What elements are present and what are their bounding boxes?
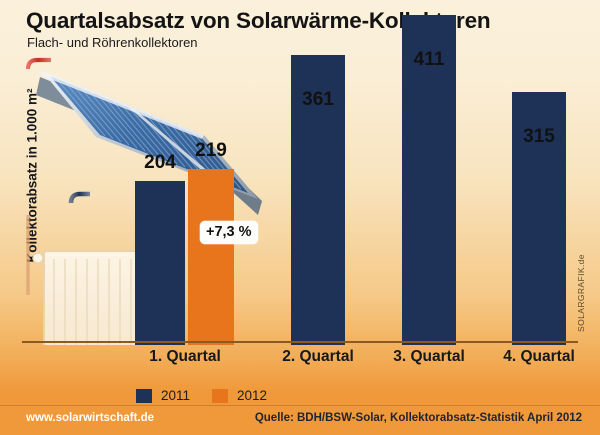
bar-value-2011-q2: 361 <box>291 89 345 111</box>
footer-website[interactable]: www.solarwirtschaft.de <box>26 412 154 424</box>
footer-source: Quelle: BDH/BSW-Solar, Kollektorabsatz-S… <box>255 412 582 424</box>
footer-divider <box>0 405 600 406</box>
x-label-q4: 4. Quartal <box>479 348 599 366</box>
legend-swatch-2012-icon <box>212 389 228 403</box>
bar-value-2011-q3: 411 <box>402 49 456 71</box>
legend-label-2012: 2012 <box>237 388 267 403</box>
graphic-credit: SOLARGRAFIK.de <box>576 238 586 348</box>
legend-item-2012[interactable]: 2012 <box>212 388 267 403</box>
bar-2011-q1[interactable] <box>135 181 185 345</box>
legend-label-2011: 2011 <box>161 388 190 403</box>
growth-annotation-badge: +7,3 % <box>200 221 258 244</box>
bar-value-2012-q1: 219 <box>186 140 236 162</box>
x-label-q2: 2. Quartal <box>258 348 378 366</box>
x-axis-line <box>22 341 578 343</box>
legend: 2011 2012 <box>136 388 289 403</box>
x-label-q3: 3. Quartal <box>369 348 489 366</box>
legend-item-2011[interactable]: 2011 <box>136 388 190 403</box>
x-label-q1: 1. Quartal <box>125 348 245 366</box>
bar-2012-q1[interactable] <box>188 169 234 345</box>
bar-value-2011-q1: 204 <box>135 152 185 174</box>
legend-swatch-2011-icon <box>136 389 152 403</box>
plot-area: 204 219 +7,3 % 361 411 315 <box>0 0 600 345</box>
chart-figure: Quartalsabsatz von Solarwärme-Kollektore… <box>0 0 600 435</box>
bar-value-2011-q4: 315 <box>512 126 566 148</box>
